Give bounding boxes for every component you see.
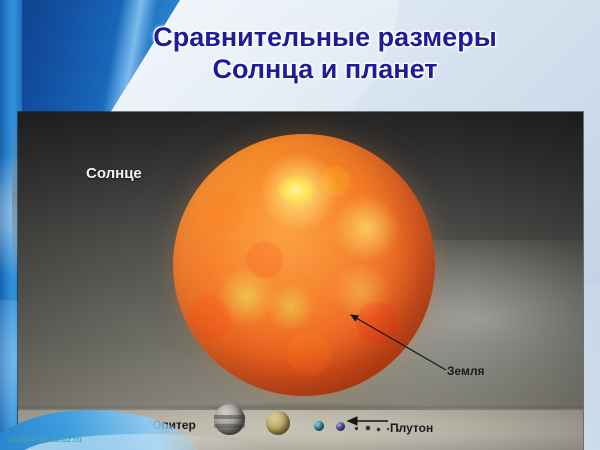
- watermark-text: olenaenko.ucoz.ru: [9, 434, 82, 444]
- photo-vignette: [18, 112, 583, 450]
- page-title: Сравнительные размеры Солнца и планет: [90, 22, 560, 86]
- label-pluto: Плутон: [390, 421, 433, 435]
- label-sun: Солнце: [86, 165, 142, 182]
- presentation-slide: Сравнительные размеры Солнца и планет: [0, 0, 600, 450]
- comparison-photo: [18, 112, 583, 450]
- label-earth: Земля: [447, 364, 485, 378]
